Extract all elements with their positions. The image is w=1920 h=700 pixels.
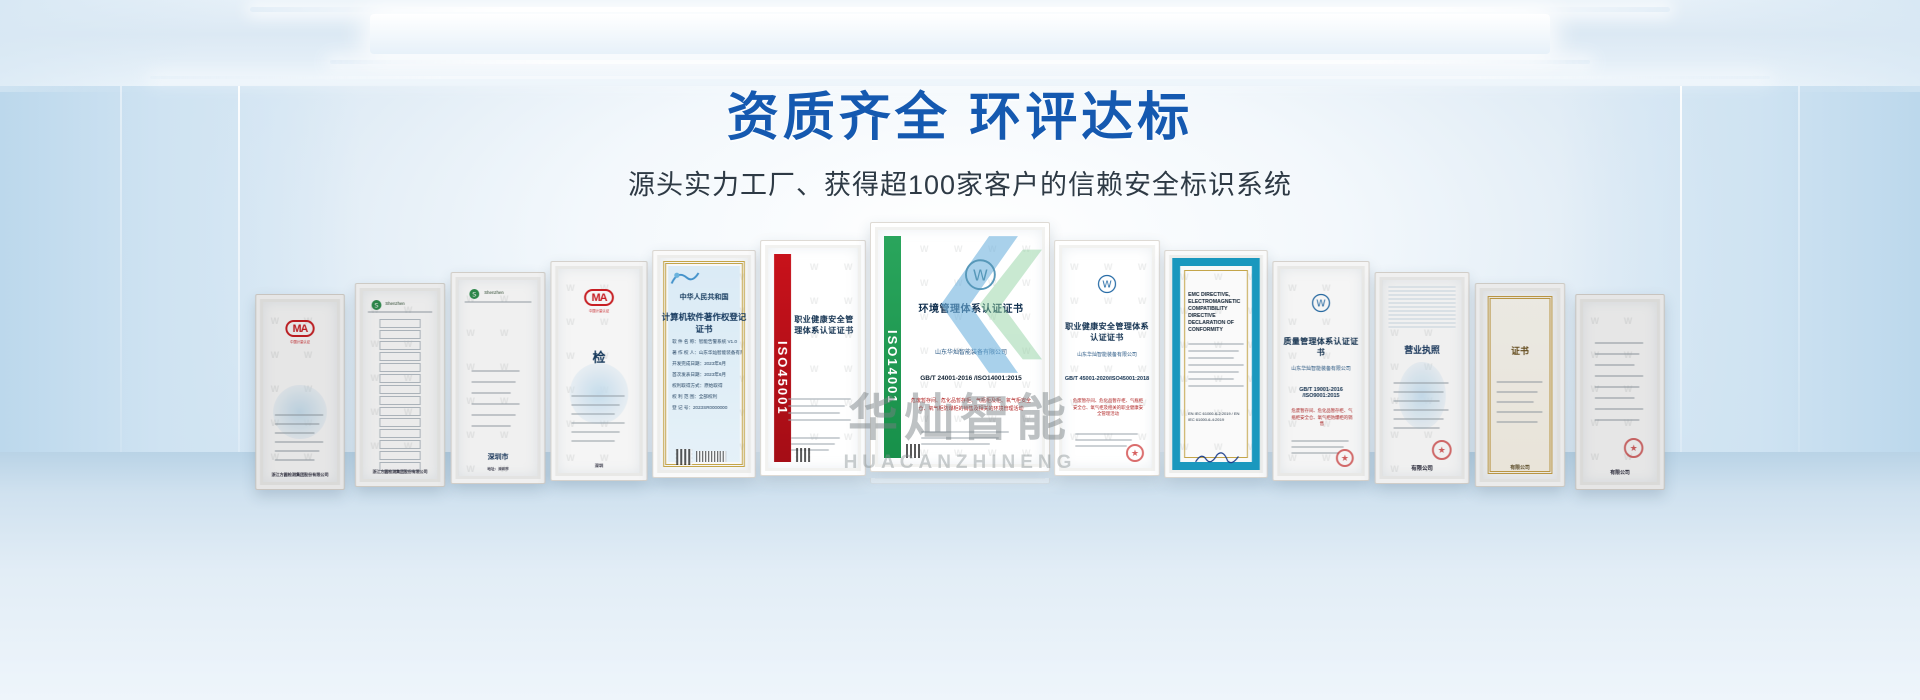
paper-watermark: W (600, 317, 608, 327)
paper-text-line (1075, 433, 1138, 435)
table-row (379, 429, 421, 438)
issuer-logo-icon: S (371, 299, 383, 311)
ceiling-light-strip (150, 76, 1770, 79)
certificate-paper: WWWWWWWWWW SShenzhen浙江方圆检测集团股份有限公司 (363, 291, 438, 479)
paper-watermark: W (466, 430, 474, 440)
paper-text-line (1496, 391, 1538, 393)
certificate-field: 权 利 范 围：全部权利 (672, 394, 742, 400)
paper-text-line (921, 431, 1010, 433)
issuer-name: Shenzhen (385, 301, 404, 306)
paper-text-line (1188, 378, 1234, 380)
paper-text-line (1595, 375, 1644, 377)
paper-watermark: W (1104, 262, 1112, 272)
certificate-title: 职业健康安全管理体系认证证书 (794, 314, 854, 336)
certificate-subfooter: 地址：深圳市 (458, 467, 537, 472)
certificate-title: EMC DIRECTIVE, ELECTROMAGNETIC COMPATIBI… (1188, 292, 1246, 334)
certificate-frame[interactable]: WWWWWWWWWWWWWWWWWWWWWWWWWWWWWWWWWWWISO14… (870, 222, 1050, 472)
paper-text-line (275, 441, 324, 443)
iso-standard-band: ISO45001 (774, 254, 791, 462)
rule (465, 301, 531, 303)
paper-watermark: W (1104, 364, 1112, 374)
paper-watermark: W (1138, 296, 1146, 306)
table-row (379, 385, 421, 394)
certificate-paper: WWWWWWWWWWWW SShenzhen深圳市地址：深圳市 (458, 280, 537, 476)
cma-badge-caption: 中国计量认证 (263, 339, 337, 344)
paper-watermark: W (1322, 453, 1330, 463)
paper-text-line (788, 419, 851, 421)
certificate-frame[interactable]: WWWWWWWWWWMA中国计量认证浙江方圆检测集团股份有限公司 (255, 294, 345, 490)
paper-watermark: W (844, 364, 852, 374)
ceiling-light-strip (250, 7, 1670, 12)
table-row (379, 330, 421, 339)
table-row (379, 418, 421, 427)
paper-text-line (571, 440, 615, 442)
certificate-wall: WWWWWWWWWWMA中国计量认证浙江方圆检测集团股份有限公司 WWWWWWW… (0, 228, 1920, 478)
certificate-frame[interactable]: WWWWWWWWWWWWMA中国计量认证检深圳 (550, 261, 647, 481)
paper-text-line (921, 443, 990, 445)
certificate-scope: 危废暂存间、危化品暂存柜、气瓶柜及柜、氧气柜安全仓、氧气柜防爆柜的销售及相关的环… (908, 398, 1034, 413)
table-row (379, 374, 421, 383)
cert-body-logo: W (1097, 274, 1117, 294)
paper-text-line (1496, 401, 1533, 403)
paper-text-line (571, 413, 615, 415)
certificate-row: WWWWWWWWWWMA中国计量认证浙江方圆检测集团股份有限公司 WWWWWWW… (248, 228, 1672, 478)
paper-watermark: W (810, 296, 818, 306)
paper-watermark: W (920, 448, 929, 458)
banner-subtitle: 源头实力工厂、获得超100家客户的信赖安全标识系统 (0, 163, 1920, 202)
paper-watermark: W (1624, 350, 1632, 360)
paper-text-line (1394, 391, 1445, 393)
table-row (379, 352, 421, 361)
paper-text-line (471, 425, 511, 427)
official-seal (1126, 444, 1144, 462)
svg-text:S: S (472, 290, 476, 298)
certificate-footer: 有限公司 (1583, 469, 1657, 476)
paper-text-line (571, 404, 620, 406)
paper-watermark: W (1104, 296, 1112, 306)
certificate-field: 登 记 号：2023SR0000000 (672, 405, 742, 411)
paper-watermark: W (566, 283, 574, 293)
cma-badge-icon: MA (584, 289, 614, 306)
certificate-frame[interactable]: WWWWWWWWWWWWWWWWWW W职业健康安全管理体系认证证书山东华灿智能… (1054, 240, 1160, 476)
certificate-standard: GB/T 19001-2016 /ISO9001:2015 (1280, 387, 1361, 399)
table-row (379, 407, 421, 416)
certificate-title: 证书 (1483, 344, 1558, 357)
paper-text-line (1075, 439, 1133, 441)
certificate-frame[interactable]: WWWWWWWWWWWW SShenzhen深圳市地址：深圳市 (451, 272, 546, 484)
paper-watermark: W (1390, 430, 1398, 440)
cma-badge-icon: MA (285, 320, 314, 337)
issuer-name: Shenzhen (484, 290, 504, 295)
certificate-standard: GB/T 45001-2020/ISO45001:2018 (1062, 376, 1152, 382)
ceiling-bevel-right (1620, 0, 1920, 92)
paper-watermark: W (1390, 362, 1398, 372)
paper-text-line (788, 405, 846, 407)
paper-watermark: W (371, 373, 379, 383)
paper-text-line (571, 431, 620, 433)
paper-watermark: W (1624, 316, 1632, 326)
certificate-field: 软 件 名 称：智能告警系统 V1.0 (672, 339, 742, 345)
certificate-frame[interactable]: WWWWWWWWWW证书有限公司 (1475, 283, 1565, 487)
paper-watermark: W (954, 414, 963, 424)
paper-text-line (1496, 411, 1542, 413)
paper-text-line (1394, 427, 1440, 429)
paper-watermark: W (1591, 350, 1599, 360)
paper-text-line (1188, 350, 1239, 352)
certificate-footer: 有限公司 (1382, 464, 1461, 472)
paper-watermark: W (566, 453, 574, 463)
paper-text-line (471, 381, 515, 383)
paper-watermark: W (1288, 317, 1296, 327)
paper-watermark: W (1022, 448, 1031, 458)
paper-watermark: W (500, 328, 508, 338)
paper-watermark: W (404, 305, 412, 315)
svg-text:W: W (973, 266, 988, 284)
paper-watermark: W (1390, 328, 1398, 338)
certificate-paper: WWWWWWWWWWWWWWWWWWEMC DIRECTIVE, ELECTRO… (1172, 258, 1260, 470)
paper-watermark: W (810, 364, 818, 374)
qr-code (676, 449, 692, 465)
certificate-company: 山东华灿智能装备有限公司 (1062, 351, 1152, 358)
paper-watermark: W (1288, 283, 1296, 293)
paper-text-line (1394, 409, 1449, 411)
paper-text-line (1496, 421, 1538, 423)
paper-text-line (788, 398, 851, 400)
paper-text-line (275, 459, 315, 461)
cma-badge-caption: 中国计量认证 (558, 308, 639, 313)
paper-watermark: W (304, 350, 312, 360)
paper-text-line (791, 443, 834, 445)
paper-text-line (1292, 446, 1344, 448)
paper-text-line (275, 423, 319, 425)
paper-watermark: W (466, 328, 474, 338)
certificate-paper: WWWWWWWWWWWWWWWWWW W职业健康安全管理体系认证证书山东华灿智能… (1062, 248, 1152, 468)
paper-watermark: W (1138, 262, 1146, 272)
paper-text-line (1394, 400, 1440, 402)
banner-title: 资质齐全 环评达标 (0, 86, 1920, 151)
svg-text:S: S (374, 301, 378, 309)
certificate-paper: WWWWWWWWWWWWWWWWWWWWWWWWWWWWWWWWWWWISO14… (878, 230, 1042, 464)
issuer-logo-icon: S (468, 288, 480, 300)
paper-text-line (471, 414, 515, 416)
certificate-frame[interactable]: WWWWWWWWWWWWWWWWWWEMC DIRECTIVE, ELECTRO… (1164, 250, 1268, 478)
certificate-header: 中华人民共和国 (660, 292, 748, 302)
certificate-footer: 深圳市 (458, 452, 537, 462)
paper-text-line (1394, 382, 1449, 384)
certificate-title: 职业健康安全管理体系认证证书 (1062, 321, 1152, 343)
paper-text-line (1595, 364, 1635, 366)
paper-text-line (471, 403, 520, 405)
certificate-frame[interactable]: WWWWWWWWWW SShenzhen浙江方圆检测集团股份有限公司 (355, 283, 445, 487)
paper-watermark: W (566, 317, 574, 327)
paper-watermark: W (1322, 317, 1330, 327)
paper-text-line (275, 450, 319, 452)
certificate-paper: WWWWWWWWWWWWWWWWWWISO45001职业健康安全管理体系认证证书 (768, 248, 858, 468)
paper-watermark: W (600, 453, 608, 463)
paper-text-line (1595, 397, 1635, 399)
paper-text-line (1595, 386, 1639, 388)
paper-text-line (1188, 343, 1244, 345)
paper-watermark: W (371, 407, 379, 417)
paper-watermark: W (954, 448, 963, 458)
paper-watermark: W (1138, 364, 1146, 374)
paper-watermark: W (1288, 453, 1296, 463)
paper-text-line (1188, 385, 1244, 387)
paper-watermark: W (844, 432, 852, 442)
paper-text-line (571, 395, 625, 397)
table-row (379, 440, 421, 449)
certificate-title: 质量管理体系认证证书 (1280, 336, 1361, 358)
cert-body-logo: W (1311, 293, 1331, 313)
paper-watermark: W (1138, 432, 1146, 442)
paper-watermark: W (371, 441, 379, 451)
certificate-field: 开发完成日期：2023年6月 (672, 361, 742, 367)
certificate-standard: EN IEC 61000-6-2:2019 / EN IEC 61000-6-4… (1188, 411, 1246, 422)
paper-watermark: W (988, 448, 997, 458)
paper-text-line (1188, 371, 1239, 373)
certificate-paper: WWWWWWWWWWWW W质量管理体系认证证书山东华灿智能装备有限公司GB/T… (1280, 269, 1361, 473)
table-row (379, 319, 421, 328)
paper-text-line (471, 370, 520, 372)
certificate-paper: WWWWWWWWWWMA中国计量认证浙江方圆检测集团股份有限公司 (263, 302, 337, 482)
paper-watermark: W (920, 414, 929, 424)
paper-text-line (1292, 452, 1339, 454)
certificate-scope: 危废暂存间、危化品暂存柜、气瓶柜安全仓、氧气柜及相关的职业健康安全管理活动 (1072, 398, 1144, 418)
license-head-band (1388, 286, 1455, 329)
certificate-frame[interactable]: WWWWWWWWWWWW W质量管理体系认证证书山东华灿智能装备有限公司GB/T… (1272, 261, 1369, 481)
table-row (379, 451, 421, 460)
certificate-footer: 深圳 (558, 463, 639, 469)
certificate-field: 权利取得方式：原始取得 (672, 383, 742, 389)
paper-text-line (1595, 419, 1639, 421)
paper-watermark: W (1424, 328, 1432, 338)
paper-text-line (1595, 353, 1639, 355)
paper-text-line (1292, 440, 1349, 442)
paper-watermark: W (1591, 316, 1599, 326)
certificate-frame[interactable]: WWWWWWWWWWWW营业执照有限公司 (1375, 272, 1470, 484)
paper-text-line (571, 422, 625, 424)
paper-text-line (1188, 364, 1244, 366)
certificate-footer: 浙江方圆检测集团股份有限公司 (363, 469, 438, 475)
paper-text-line (788, 412, 840, 414)
certificate-frame[interactable]: WWWWWWWWWW有限公司 (1575, 294, 1665, 490)
paper-watermark: W (810, 262, 818, 272)
certificate-frame[interactable]: WWWWWWWWWWWWWWWWWW 中华人民共和国计算机软件著作权登记证书软 … (652, 250, 756, 478)
paper-watermark: W (1022, 414, 1031, 424)
certificate-paper: WWWWWWWWWWWW营业执照有限公司 (1382, 280, 1461, 476)
table-row (379, 396, 421, 405)
paper-text-line (1595, 342, 1644, 344)
paper-watermark: W (1591, 452, 1599, 462)
paper-watermark: W (566, 419, 574, 429)
paper-watermark: W (1070, 364, 1078, 374)
certificate-paper: WWWWWWWWWWWWWWWWWW 中华人民共和国计算机软件著作权登记证书软 … (660, 258, 748, 470)
paper-watermark: W (844, 296, 852, 306)
certificate-scope: 危废暂存间、危化品暂存柜、气瓶柜安全仓、氧气柜防爆柜的销售 (1290, 408, 1354, 428)
paper-text-line (275, 414, 324, 416)
paper-watermark: W (500, 430, 508, 440)
paper-text-line (1075, 445, 1127, 447)
certificate-field: 首次发表日期：2023年6月 (672, 372, 742, 378)
certificate-frame[interactable]: WWWWWWWWWWWWWWWWWWISO45001职业健康安全管理体系认证证书 (760, 240, 866, 476)
certificate-company: 山东华灿智能装备有限公司 (1280, 365, 1361, 372)
certificate-field: 著 作 权 人：山东华灿智能装备有限公司 (672, 350, 742, 356)
certificate-title: 营业执照 (1382, 343, 1461, 356)
paper-watermark: W (1322, 283, 1330, 293)
official-seal (1432, 440, 1452, 460)
ceiling-bevel-left (0, 0, 300, 92)
certificate-paper: WWWWWWWWWW证书有限公司 (1483, 291, 1558, 479)
paper-watermark: W (1070, 296, 1078, 306)
official-seal (1624, 438, 1643, 458)
paper-watermark: W (844, 262, 852, 272)
banner-stage: 资质齐全 环评达标 源头实力工厂、获得超100家客户的信赖安全标识系统 WWWW… (0, 0, 1920, 700)
paper-watermark: W (988, 414, 997, 424)
paper-text-line (791, 437, 840, 439)
paper-watermark: W (1424, 430, 1432, 440)
certificate-footer: 有限公司 (1483, 464, 1558, 471)
paper-text-line (1394, 418, 1445, 420)
certificate-footer: 浙江方圆检测集团股份有限公司 (263, 472, 337, 478)
svg-text:W: W (1316, 298, 1326, 309)
certificate-paper: WWWWWWWWWWWWMA中国计量认证检深圳 (558, 269, 639, 473)
rule (367, 311, 433, 313)
paper-watermark: W (371, 339, 379, 349)
paper-text-line (1595, 408, 1644, 410)
qr-code (796, 448, 810, 462)
table-row (379, 341, 421, 350)
banner-text-block: 资质齐全 环评达标 源头实力工厂、获得超100家客户的信赖安全标识系统 (0, 86, 1920, 202)
ornament-scroll-icon (670, 268, 700, 290)
paper-text-line (275, 432, 315, 434)
official-seal (1336, 449, 1354, 467)
paper-text-line (921, 437, 1000, 439)
paper-text-line (471, 392, 511, 394)
paper-watermark: W (271, 350, 279, 360)
paper-watermark: W (271, 384, 279, 394)
cert-blue-medallion (273, 385, 327, 439)
paper-text-line (1188, 357, 1234, 359)
paper-watermark: W (1070, 262, 1078, 272)
table-row (379, 363, 421, 372)
paper-watermark: W (271, 316, 279, 326)
svg-text:W: W (1102, 279, 1112, 290)
signature-mark (1194, 450, 1240, 466)
certificate-gold-frame (1488, 296, 1553, 474)
certificate-title: 计算机软件著作权登记证书 (660, 311, 748, 335)
qr-code (906, 444, 920, 458)
ceiling-light-strip (330, 60, 1590, 64)
paper-text-line (1496, 381, 1542, 383)
eco-chevron-graphic: W (888, 232, 1042, 377)
certificate-paper: WWWWWWWWWW有限公司 (1583, 302, 1657, 482)
barcode (696, 451, 726, 462)
